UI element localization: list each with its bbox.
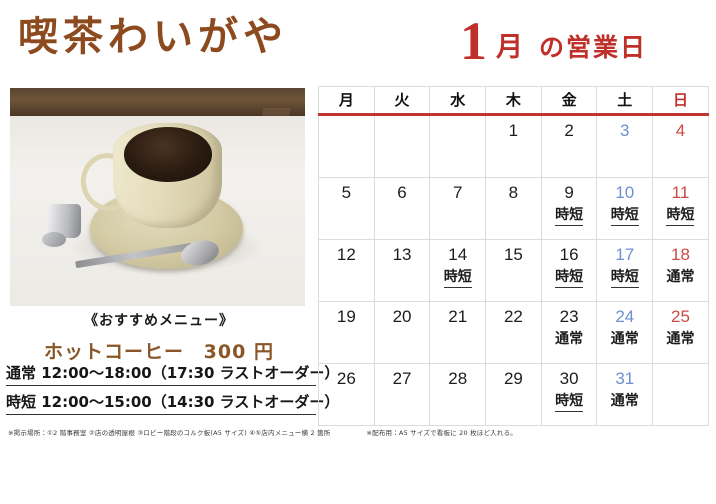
calendar-day-cell: 30時短 bbox=[541, 364, 597, 426]
weekday-header-fri: 金 bbox=[541, 87, 597, 115]
weekday-header-tue: 火 bbox=[374, 87, 430, 115]
calendar-day-number: 23 bbox=[542, 306, 597, 327]
calendar-day-cell: 7 bbox=[430, 178, 486, 240]
calendar-day-number: 12 bbox=[319, 244, 374, 265]
calendar-day-cell: 8 bbox=[486, 178, 542, 240]
business-days-label: の営業日 bbox=[539, 28, 647, 67]
calendar-short-hours-tag: 時短 bbox=[555, 207, 583, 226]
calendar-day-number: 3 bbox=[597, 120, 652, 141]
photo-coffee-surface bbox=[124, 127, 213, 182]
calendar-week-row: 2627282930時短31通常 bbox=[319, 364, 709, 426]
calendar-day-cell: 14時短 bbox=[430, 240, 486, 302]
calendar-day-number: 9 bbox=[542, 182, 597, 203]
calendar-day-cell: 2 bbox=[541, 115, 597, 178]
calendar-day-number: 11 bbox=[653, 182, 708, 203]
calendar-day-number: 30 bbox=[542, 368, 597, 389]
weekday-header-thu: 木 bbox=[486, 87, 542, 115]
opening-hours-block: 通常 12:00〜18:00（17:30 ラストオーダー） 時短 12:00〜1… bbox=[6, 362, 316, 420]
calendar-day-number: 15 bbox=[486, 244, 541, 265]
calendar-day-cell: 11時短 bbox=[653, 178, 709, 240]
calendar-day-cell: 21 bbox=[430, 302, 486, 364]
calendar-body: 123456789時短10時短11時短121314時短1516時短17時短18通… bbox=[319, 115, 709, 426]
calendar-week-row: 56789時短10時短11時短 bbox=[319, 178, 709, 240]
calendar-day-number: 25 bbox=[653, 306, 708, 327]
calendar-day-number: 21 bbox=[430, 306, 485, 327]
calendar-day-cell: 5 bbox=[319, 178, 375, 240]
calendar-day-cell: 12 bbox=[319, 240, 375, 302]
calendar-day-number: 19 bbox=[319, 306, 374, 327]
calendar-regular-hours-tag: 通常 bbox=[611, 331, 639, 348]
calendar-day-cell: 1 bbox=[486, 115, 542, 178]
menu-item-price: 300 円 bbox=[204, 341, 274, 363]
footnotes: ※掲示場所：①2 階事務室 ②店の透明屋根 ③ロビー階段のコルク板(A5 サイズ… bbox=[8, 427, 708, 437]
calendar-day-number: 6 bbox=[375, 182, 430, 203]
calendar-week-row: 1234 bbox=[319, 115, 709, 178]
calendar-day-number: 1 bbox=[486, 120, 541, 141]
calendar-week-row: 121314時短1516時短17時短18通常 bbox=[319, 240, 709, 302]
calendar-day-cell: 3 bbox=[597, 115, 653, 178]
calendar-regular-hours-tag: 通常 bbox=[666, 331, 694, 348]
calendar-day-number: 8 bbox=[486, 182, 541, 203]
calendar-day-cell: 10時短 bbox=[597, 178, 653, 240]
calendar-empty-cell bbox=[319, 115, 375, 178]
calendar-day-cell: 16時短 bbox=[541, 240, 597, 302]
calendar-regular-hours-tag: 通常 bbox=[666, 269, 694, 286]
calendar-day-number: 17 bbox=[597, 244, 652, 265]
calendar-day-number: 24 bbox=[597, 306, 652, 327]
hours-line-short: 時短 12:00〜15:00（14:30 ラストオーダー） bbox=[6, 391, 316, 415]
calendar-day-cell: 15 bbox=[486, 240, 542, 302]
calendar-day-cell: 31通常 bbox=[597, 364, 653, 426]
calendar-day-cell: 17時短 bbox=[597, 240, 653, 302]
weekday-header-mon: 月 bbox=[319, 87, 375, 115]
calendar-empty-cell bbox=[653, 364, 709, 426]
calendar-regular-hours-tag: 通常 bbox=[611, 393, 639, 410]
calendar-short-hours-tag: 時短 bbox=[444, 269, 472, 288]
calendar-day-cell: 25通常 bbox=[653, 302, 709, 364]
calendar-empty-cell bbox=[374, 115, 430, 178]
shop-title: 喫茶わいがや bbox=[18, 12, 288, 62]
calendar-day-number: 14 bbox=[430, 244, 485, 265]
photo-pitcher-base bbox=[42, 232, 66, 247]
calendar-day-number: 29 bbox=[486, 368, 541, 389]
calendar-day-number: 22 bbox=[486, 306, 541, 327]
calendar-day-number: 28 bbox=[430, 368, 485, 389]
hours-line-regular: 通常 12:00〜18:00（17:30 ラストオーダー） bbox=[6, 362, 316, 386]
calendar-day-cell: 13 bbox=[374, 240, 430, 302]
calendar-day-number: 27 bbox=[375, 368, 430, 389]
calendar-day-number: 2 bbox=[542, 120, 597, 141]
weekday-header-sat: 土 bbox=[597, 87, 653, 115]
calendar-day-number: 31 bbox=[597, 368, 652, 389]
photo-wood-shelf bbox=[10, 88, 305, 116]
calendar-day-cell: 19 bbox=[319, 302, 375, 364]
menu-item-row: ホットコーヒー 300 円 bbox=[0, 337, 318, 364]
calendar-day-number: 4 bbox=[653, 120, 708, 141]
calendar-day-cell: 27 bbox=[374, 364, 430, 426]
calendar-day-cell: 6 bbox=[374, 178, 430, 240]
weekday-header-wed: 水 bbox=[430, 87, 486, 115]
calendar-short-hours-tag: 時短 bbox=[611, 207, 639, 226]
menu-item-name: ホットコーヒー bbox=[44, 341, 184, 363]
calendar-day-cell: 26 bbox=[319, 364, 375, 426]
calendar-day-cell: 24通常 bbox=[597, 302, 653, 364]
calendar-empty-cell bbox=[430, 115, 486, 178]
calendar-day-cell: 23通常 bbox=[541, 302, 597, 364]
recommended-menu-block: 《おすすめメニュー》 ホットコーヒー 300 円 bbox=[0, 310, 318, 364]
calendar-day-cell: 18通常 bbox=[653, 240, 709, 302]
calendar-short-hours-tag: 時短 bbox=[555, 393, 583, 412]
calendar-short-hours-tag: 時短 bbox=[666, 207, 694, 226]
footnote-posting-locations: ※掲示場所：①2 階事務室 ②店の透明屋根 ③ロビー階段のコルク板(A5 サイズ… bbox=[8, 427, 330, 437]
calendar-week-row: 1920212223通常24通常25通常 bbox=[319, 302, 709, 364]
calendar-regular-hours-tag: 通常 bbox=[555, 331, 583, 348]
calendar-day-number: 13 bbox=[375, 244, 430, 265]
menu-heading: 《おすすめメニュー》 bbox=[0, 310, 318, 330]
calendar-day-number: 20 bbox=[375, 306, 430, 327]
month-number: 1 bbox=[460, 16, 487, 67]
calendar-day-number: 7 bbox=[430, 182, 485, 203]
calendar-short-hours-tag: 時短 bbox=[555, 269, 583, 288]
calendar-day-number: 26 bbox=[319, 368, 374, 389]
calendar-day-cell: 22 bbox=[486, 302, 542, 364]
calendar-day-number: 5 bbox=[319, 182, 374, 203]
calendar-day-number: 18 bbox=[653, 244, 708, 265]
calendar-day-cell: 4 bbox=[653, 115, 709, 178]
calendar-day-cell: 9時短 bbox=[541, 178, 597, 240]
weekday-header-sun: 日 bbox=[653, 87, 709, 115]
calendar-day-number: 16 bbox=[542, 244, 597, 265]
coffee-photo bbox=[10, 88, 305, 306]
calendar-day-cell: 28 bbox=[430, 364, 486, 426]
calendar-day-cell: 29 bbox=[486, 364, 542, 426]
footnote-distribution: ※配布用：A5 サイズで看板に 20 枚ほど入れる。 bbox=[366, 427, 517, 437]
month-kanji-label: 月 bbox=[496, 25, 523, 67]
calendar-short-hours-tag: 時短 bbox=[611, 269, 639, 288]
month-heading: 1 月 の営業日 bbox=[460, 16, 647, 67]
calendar-header-row: 月 火 水 木 金 土 日 bbox=[319, 87, 709, 115]
calendar-day-cell: 20 bbox=[374, 302, 430, 364]
calendar-day-number: 10 bbox=[597, 182, 652, 203]
business-day-calendar: 月 火 水 木 金 土 日 123456789時短10時短11時短121314時… bbox=[318, 86, 709, 426]
